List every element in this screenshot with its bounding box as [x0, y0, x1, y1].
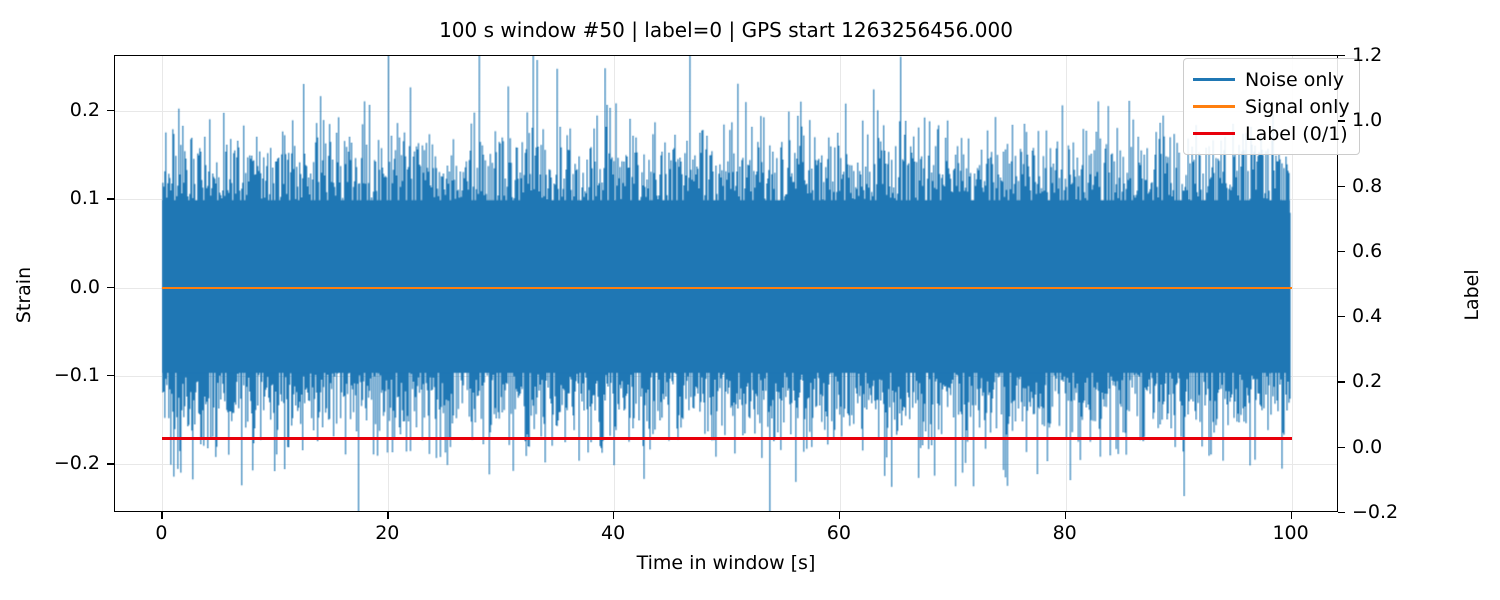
series-signal-only: [162, 287, 1291, 289]
x-axis-label: Time in window [s]: [114, 552, 1338, 574]
legend-item[interactable]: Signal only: [1193, 93, 1350, 120]
tick-mark-left: [107, 463, 114, 464]
tick-mark-right: [1338, 381, 1345, 382]
ytick-label-left: 0.1: [10, 187, 100, 209]
ytick-label-left: −0.2: [10, 452, 100, 474]
tick-mark-right: [1338, 186, 1345, 187]
legend-item[interactable]: Label (0/1): [1193, 120, 1350, 147]
chart-title: 100 s window #50 | label=0 | GPS start 1…: [114, 18, 1338, 42]
ytick-label-right: −0.2: [1352, 501, 1442, 523]
tick-mark-right: [1338, 251, 1345, 252]
legend-color-swatch: [1193, 105, 1235, 107]
tick-mark-right: [1338, 316, 1345, 317]
xtick-label: 40: [573, 522, 653, 544]
tick-mark-bottom: [161, 512, 162, 519]
ytick-label-left: 0.0: [10, 276, 100, 298]
xtick-label: 60: [799, 522, 879, 544]
ytick-label-right: 0.2: [1352, 370, 1442, 392]
tick-mark-bottom: [387, 512, 388, 519]
legend-color-swatch: [1193, 78, 1235, 80]
tick-mark-bottom: [1291, 512, 1292, 519]
legend-item-label: Signal only: [1245, 96, 1350, 118]
tick-mark-bottom: [1065, 512, 1066, 519]
ytick-label-right: 0.0: [1352, 436, 1442, 458]
xtick-label: 0: [121, 522, 201, 544]
tick-mark-left: [107, 110, 114, 111]
xtick-label: 80: [1025, 522, 1105, 544]
ytick-label-right: 0.6: [1352, 240, 1442, 262]
matplotlib-figure: 100 s window #50 | label=0 | GPS start 1…: [0, 0, 1500, 600]
tick-mark-right: [1338, 512, 1345, 513]
ytick-label-left: 0.2: [10, 99, 100, 121]
tick-mark-left: [107, 198, 114, 199]
xtick-label: 20: [347, 522, 427, 544]
y-axis-label-right: Label: [1461, 235, 1483, 355]
series-noise-only: [115, 56, 1337, 511]
tick-mark-right: [1338, 120, 1345, 121]
plot-axes: [114, 55, 1338, 512]
tick-mark-bottom: [839, 512, 840, 519]
ytick-label-right: 1.0: [1352, 109, 1442, 131]
legend-item-label: Noise only: [1245, 69, 1344, 91]
legend-item[interactable]: Noise only: [1193, 66, 1350, 93]
ytick-label-right: 0.8: [1352, 175, 1442, 197]
ytick-label-right: 1.2: [1352, 44, 1442, 66]
ytick-label-right: 0.4: [1352, 305, 1442, 327]
tick-mark-left: [107, 375, 114, 376]
legend-item-label: Label (0/1): [1245, 123, 1348, 145]
tick-mark-left: [107, 287, 114, 288]
xtick-label: 100: [1251, 522, 1331, 544]
chart-legend: Noise onlySignal onlyLabel (0/1): [1183, 58, 1360, 155]
tick-mark-bottom: [613, 512, 614, 519]
legend-color-swatch: [1193, 132, 1235, 135]
tick-mark-right: [1338, 55, 1345, 56]
tick-mark-right: [1338, 447, 1345, 448]
series-label-01: [162, 437, 1291, 440]
ytick-label-left: −0.1: [10, 364, 100, 386]
